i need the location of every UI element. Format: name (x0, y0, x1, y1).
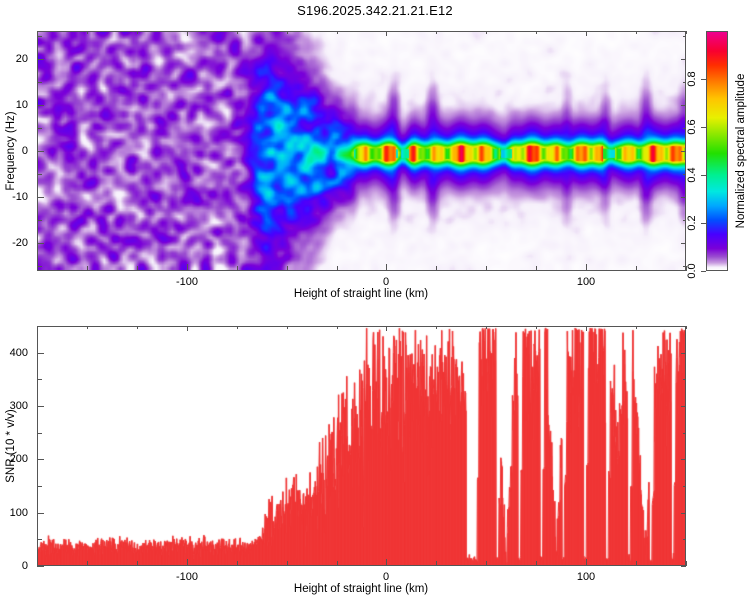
y-tick (37, 513, 44, 514)
x-tick (536, 561, 537, 566)
y-tick-right (681, 566, 686, 567)
figure-root: S196.2025.342.21.21.E12 -1000100-20-1001… (0, 0, 750, 600)
x-tick (287, 266, 288, 271)
x-tick (237, 266, 238, 271)
x-tick-top (636, 326, 637, 329)
x-tick-top (486, 31, 487, 34)
x-tick-top (586, 31, 587, 36)
x-tick-top (287, 31, 288, 34)
x-tick (237, 561, 238, 566)
x-tick-top (536, 326, 537, 329)
y-tick (37, 197, 44, 198)
x-tick-top (237, 31, 238, 34)
colorbar-tick (701, 79, 706, 80)
colorbar-title: Normalized spectral amplitude (735, 74, 747, 229)
colorbar-tick (701, 175, 706, 176)
spectrogram-yaxis-title: Frequency (Hz) (5, 111, 17, 190)
x-tick (187, 559, 188, 566)
x-tick-label: 100 (577, 276, 595, 288)
y-tick-label: 0 (0, 560, 28, 572)
x-tick (636, 266, 637, 271)
colorbar-tick-label: 0.6 (686, 119, 698, 134)
y-tick-label: -20 (0, 237, 28, 249)
y-tick (37, 406, 44, 407)
colorbar-tick-label: 0.0 (686, 263, 698, 278)
y-tick-label: -10 (0, 191, 28, 203)
colorbar-gradient (707, 32, 727, 270)
colorbar-tick-label: 0.4 (686, 167, 698, 182)
x-tick (386, 264, 387, 271)
x-tick-label: 0 (383, 571, 389, 583)
y-tick (37, 59, 44, 60)
y-tick-right (681, 353, 686, 354)
colorbar-tick (701, 223, 706, 224)
x-tick-top (87, 326, 88, 329)
x-tick (436, 266, 437, 271)
x-tick (436, 561, 437, 566)
x-tick-label: 100 (577, 571, 595, 583)
y-tick-right (681, 243, 686, 244)
y-tick (37, 539, 42, 540)
x-tick (187, 264, 188, 271)
y-tick-right (683, 433, 686, 434)
colorbar-tick-label: 0.8 (686, 71, 698, 86)
x-tick-top (636, 31, 637, 34)
spectrogram-image (38, 32, 685, 270)
y-tick (37, 266, 42, 267)
x-tick (486, 266, 487, 271)
y-tick (37, 82, 42, 83)
x-tick-top (486, 326, 487, 329)
colorbar-tick (701, 127, 706, 128)
x-tick (686, 561, 687, 566)
x-tick (287, 561, 288, 566)
y-tick (37, 128, 42, 129)
y-tick (37, 353, 44, 354)
x-tick-top (586, 326, 587, 331)
colorbar-tick (701, 271, 706, 272)
y-tick-right (683, 539, 686, 540)
snr-trace (38, 327, 685, 565)
x-tick (586, 264, 587, 271)
y-tick (37, 174, 42, 175)
y-tick-right (681, 105, 686, 106)
x-tick-top (287, 326, 288, 329)
x-tick-top (436, 326, 437, 329)
x-tick (636, 561, 637, 566)
x-tick (586, 559, 587, 566)
x-tick (137, 266, 138, 271)
snr-xaxis-title: Height of straight line (km) (294, 583, 428, 595)
x-tick-top (187, 326, 188, 331)
figure-title: S196.2025.342.21.21.E12 (0, 3, 750, 18)
y-tick-right (683, 379, 686, 380)
x-tick-label: -100 (176, 276, 198, 288)
x-tick (386, 559, 387, 566)
y-tick-right (681, 59, 686, 60)
y-tick-right (681, 406, 686, 407)
x-tick-top (87, 31, 88, 34)
x-tick-top (686, 31, 687, 34)
y-tick (37, 151, 44, 152)
x-tick-top (137, 31, 138, 34)
y-tick-right (683, 36, 686, 37)
y-tick-label: 400 (0, 347, 28, 359)
y-tick-right (681, 151, 686, 152)
y-tick-right (681, 459, 686, 460)
x-tick-top (237, 326, 238, 329)
x-tick-top (187, 31, 188, 36)
x-tick-top (436, 31, 437, 34)
y-tick (37, 486, 42, 487)
y-tick-label: 10 (0, 99, 28, 111)
colorbar[interactable] (706, 31, 728, 271)
x-tick (486, 561, 487, 566)
y-tick (37, 379, 42, 380)
x-tick-label: -100 (176, 571, 198, 583)
y-tick (37, 105, 44, 106)
x-tick (87, 266, 88, 271)
y-tick-right (681, 197, 686, 198)
y-tick (37, 220, 42, 221)
snr-yaxis-title: SNR (10 * v/v) (5, 409, 17, 483)
x-tick-top (536, 31, 537, 34)
x-tick-top (137, 326, 138, 329)
y-tick-label: 100 (0, 507, 28, 519)
x-tick-top (337, 31, 338, 34)
x-tick-top (386, 326, 387, 331)
y-tick-right (683, 326, 686, 327)
x-tick-top (686, 326, 687, 329)
y-tick (37, 243, 44, 244)
spectrogram-xaxis-title: Height of straight line (km) (294, 288, 428, 300)
y-tick (37, 36, 42, 37)
x-tick-top (337, 326, 338, 329)
snr-panel[interactable] (37, 326, 686, 566)
x-tick (87, 561, 88, 566)
x-tick (137, 561, 138, 566)
spectrogram-panel[interactable] (37, 31, 686, 271)
x-tick-top (386, 31, 387, 36)
colorbar-tick-label: 0.2 (686, 215, 698, 230)
y-tick (37, 433, 42, 434)
y-tick-label: 20 (0, 53, 28, 65)
x-tick (337, 561, 338, 566)
y-tick-right (681, 513, 686, 514)
y-tick (37, 566, 44, 567)
y-tick-right (683, 486, 686, 487)
y-tick (37, 459, 44, 460)
x-tick-label: 0 (383, 276, 389, 288)
x-tick (536, 266, 537, 271)
x-tick-top (37, 31, 38, 34)
y-tick (37, 326, 42, 327)
x-tick (337, 266, 338, 271)
